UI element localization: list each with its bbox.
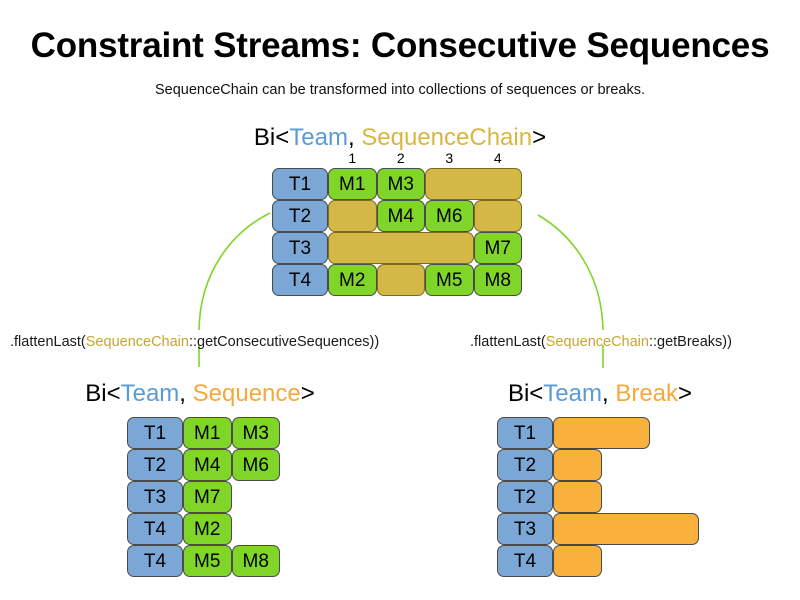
top-type-generic-team: Team bbox=[289, 124, 348, 151]
right-break-bar-3-T3 bbox=[553, 513, 699, 545]
top-chain-gap-T1-2 bbox=[425, 168, 522, 200]
top-team-cell-T1: T1 bbox=[272, 168, 328, 200]
right-flatten-operation: .flattenLast(SequenceChain::getBreaks)) bbox=[470, 334, 732, 350]
right-type-label: Bi<Team, Break> bbox=[400, 380, 800, 408]
left-match-cell-M6: M6 bbox=[232, 449, 281, 481]
left-type-separator: , bbox=[179, 380, 192, 407]
top-chain-gap-T4-1 bbox=[377, 264, 426, 296]
right-flatten-type: SequenceChain bbox=[546, 334, 649, 350]
left-team-cell-1-T2: T2 bbox=[127, 449, 183, 481]
top-match-cell-M1: M1 bbox=[328, 168, 377, 200]
left-match-cell-M2: M2 bbox=[183, 513, 232, 545]
top-type-suffix: > bbox=[532, 124, 546, 151]
column-header-1: 1 bbox=[332, 150, 372, 166]
top-team-cell-T2: T2 bbox=[272, 200, 328, 232]
left-type-generic-team: Team bbox=[121, 380, 180, 407]
right-break-bar-0-T1 bbox=[553, 417, 650, 449]
left-team-cell-0-T1: T1 bbox=[127, 417, 183, 449]
left-type-generic-sequence: Sequence bbox=[193, 380, 301, 407]
column-header-4: 4 bbox=[478, 150, 518, 166]
left-match-cell-M8: M8 bbox=[232, 545, 281, 577]
right-type-generic-team: Team bbox=[543, 380, 602, 407]
column-header-3: 3 bbox=[429, 150, 469, 166]
right-team-cell-3-T3: T3 bbox=[497, 513, 553, 545]
right-type-generic-break: Break bbox=[615, 380, 678, 407]
top-match-cell-M7: M7 bbox=[474, 232, 523, 264]
column-header-2: 2 bbox=[381, 150, 421, 166]
top-match-cell-M6: M6 bbox=[425, 200, 474, 232]
top-type-separator: , bbox=[348, 124, 361, 151]
left-team-cell-4-T4: T4 bbox=[127, 545, 183, 577]
top-chain-gap-T3-0 bbox=[328, 232, 474, 264]
left-flatten-type: SequenceChain bbox=[86, 334, 189, 350]
right-team-cell-2-T2: T2 bbox=[497, 481, 553, 513]
top-chain-gap-T2-0 bbox=[328, 200, 377, 232]
top-type-label: Bi<Team, SequenceChain> bbox=[0, 124, 800, 152]
right-flatten-method: ::getBreaks)) bbox=[649, 334, 732, 350]
page-title: Constraint Streams: Consecutive Sequence… bbox=[0, 26, 800, 66]
diagram-canvas: Constraint Streams: Consecutive Sequence… bbox=[0, 0, 800, 600]
left-type-prefix: Bi< bbox=[85, 380, 120, 407]
left-team-cell-3-T4: T4 bbox=[127, 513, 183, 545]
left-flatten-prefix: .flattenLast( bbox=[10, 334, 86, 350]
right-break-bar-1-T2 bbox=[553, 449, 602, 481]
top-team-cell-T4: T4 bbox=[272, 264, 328, 296]
page-subtitle: SequenceChain can be transformed into co… bbox=[0, 82, 800, 98]
right-flatten-prefix: .flattenLast( bbox=[470, 334, 546, 350]
top-team-cell-T3: T3 bbox=[272, 232, 328, 264]
top-match-cell-M2: M2 bbox=[328, 264, 377, 296]
top-match-cell-M3: M3 bbox=[377, 168, 426, 200]
left-match-cell-M5: M5 bbox=[183, 545, 232, 577]
top-match-cell-M4: M4 bbox=[377, 200, 426, 232]
left-type-label: Bi<Team, Sequence> bbox=[0, 380, 400, 408]
top-match-cell-M8: M8 bbox=[474, 264, 523, 296]
right-break-bar-4-T4 bbox=[553, 545, 602, 577]
left-flatten-method: ::getConsecutiveSequences)) bbox=[189, 334, 379, 350]
right-type-separator: , bbox=[602, 380, 615, 407]
left-match-cell-M3: M3 bbox=[232, 417, 281, 449]
left-match-cell-M1: M1 bbox=[183, 417, 232, 449]
left-type-suffix: > bbox=[301, 380, 315, 407]
top-type-prefix: Bi< bbox=[254, 124, 289, 151]
right-break-bar-2-T2 bbox=[553, 481, 602, 513]
left-team-cell-2-T3: T3 bbox=[127, 481, 183, 513]
top-match-cell-M5: M5 bbox=[425, 264, 474, 296]
left-flatten-operation: .flattenLast(SequenceChain::getConsecuti… bbox=[10, 334, 379, 350]
left-match-cell-M7: M7 bbox=[183, 481, 232, 513]
left-match-cell-M4: M4 bbox=[183, 449, 232, 481]
top-chain-gap-T2-3 bbox=[474, 200, 523, 232]
right-team-cell-0-T1: T1 bbox=[497, 417, 553, 449]
right-type-prefix: Bi< bbox=[508, 380, 543, 407]
right-team-cell-4-T4: T4 bbox=[497, 545, 553, 577]
right-type-suffix: > bbox=[678, 380, 692, 407]
right-team-cell-1-T2: T2 bbox=[497, 449, 553, 481]
top-type-generic-sequencechain: SequenceChain bbox=[361, 124, 532, 151]
